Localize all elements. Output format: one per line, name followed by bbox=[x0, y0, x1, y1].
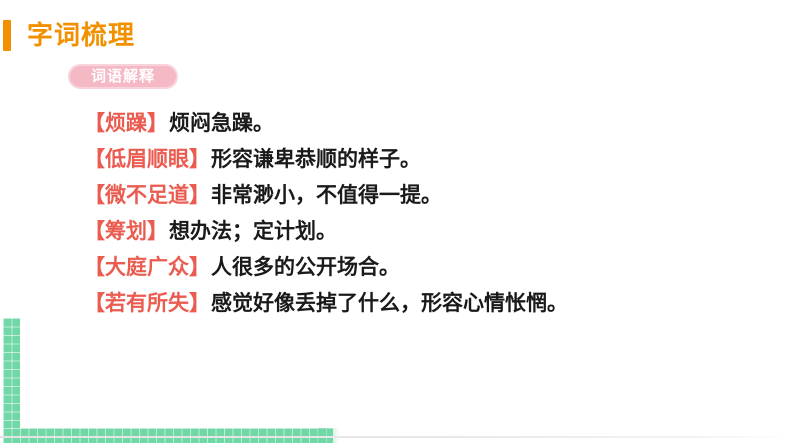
list-item: 【筹划】 想办法；定计划。 bbox=[84, 213, 784, 249]
definition-term: 【若有所失】 bbox=[84, 293, 210, 314]
page-title: 字词梳理 bbox=[27, 22, 135, 48]
list-item: 【烦躁】 烦闷急躁。 bbox=[84, 105, 784, 141]
list-item: 【微不足道】 非常渺小，不值得一提。 bbox=[84, 177, 784, 213]
page-header: 字词梳理 bbox=[0, 17, 135, 53]
definition-term: 【大庭广众】 bbox=[84, 257, 210, 278]
list-item: 【若有所失】 感觉好像丢掉了什么，形容心情怅惘。 bbox=[84, 285, 784, 321]
title-accent-bar bbox=[3, 20, 11, 51]
definition-term: 【微不足道】 bbox=[84, 185, 210, 206]
list-item: 【大庭广众】 人很多的公开场合。 bbox=[84, 249, 784, 285]
definition-term: 【筹划】 bbox=[84, 221, 168, 242]
list-item: 【低眉顺眼】 形容谦卑恭顺的样子。 bbox=[84, 141, 784, 177]
green-grid-vertical-decoration bbox=[3, 318, 20, 428]
status-badge-label: 词语解释 bbox=[91, 69, 155, 84]
definition-meaning: 形容谦卑恭顺的样子。 bbox=[211, 149, 421, 170]
definition-list: 【烦躁】 烦闷急躁。 【低眉顺眼】 形容谦卑恭顺的样子。 【微不足道】 非常渺小… bbox=[84, 105, 784, 321]
definition-meaning: 感觉好像丢掉了什么，形容心情怅惘。 bbox=[211, 293, 568, 314]
bottom-divider bbox=[0, 436, 794, 438]
definition-term: 【烦躁】 bbox=[84, 113, 168, 134]
status-badge: 词语解释 bbox=[68, 64, 178, 89]
definition-meaning: 非常渺小，不值得一提。 bbox=[211, 185, 442, 206]
definition-term: 【低眉顺眼】 bbox=[84, 149, 210, 170]
definition-meaning: 想办法；定计划。 bbox=[169, 221, 337, 242]
slide-canvas: 字词梳理 词语解释 【烦躁】 烦闷急躁。 【低眉顺眼】 形容谦卑恭顺的样子。 【… bbox=[0, 0, 794, 447]
definition-meaning: 烦闷急躁。 bbox=[169, 113, 274, 134]
definition-meaning: 人很多的公开场合。 bbox=[211, 257, 400, 278]
